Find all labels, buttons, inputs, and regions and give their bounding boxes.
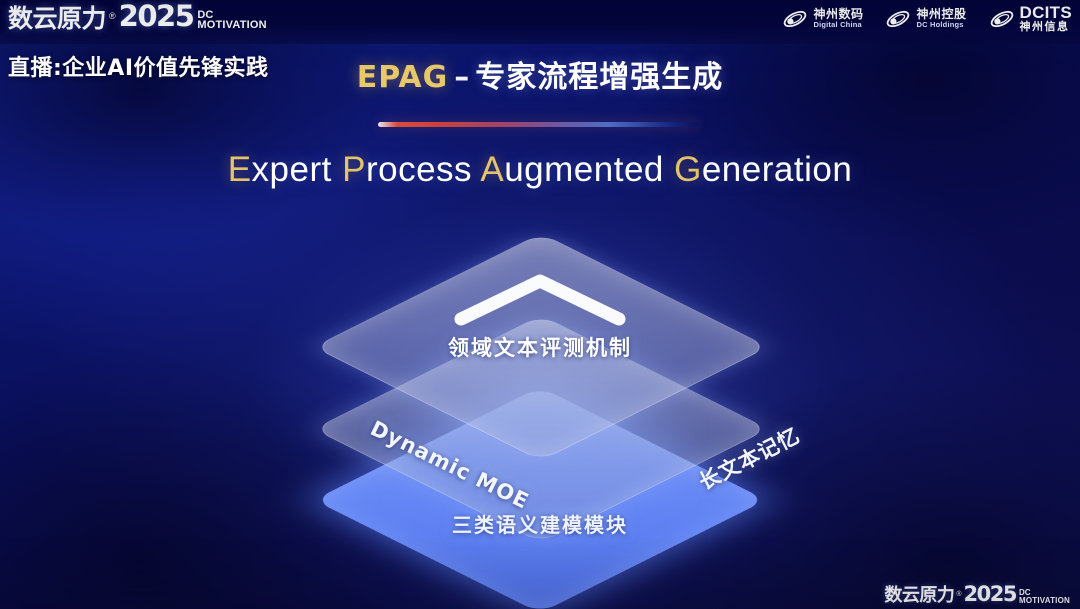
subtitle-rest-process: rocess: [366, 150, 472, 189]
partner-name-cn: 神州信息: [1020, 21, 1073, 33]
chevron-up-icon: [453, 272, 627, 333]
watermark-registered-mark: ®: [956, 591, 961, 598]
slide-canvas: 数云原力 ® 2025 DC MOTIVATION 直播:企业AI价值先锋实践 …: [0, 0, 1080, 609]
subtitle-word-process: Process: [342, 150, 472, 189]
subtitle-cap-g: G: [674, 150, 702, 189]
subtitle-cap-p: P: [342, 150, 366, 189]
swirl-logo-icon: [782, 8, 808, 30]
partner-logo-dc-holdings: 神州控股 DC Holdings: [885, 8, 966, 30]
brand-name-cn: 数云原力: [8, 6, 106, 31]
subtitle: Expert Process Augmented Generation: [0, 150, 1080, 190]
partner-logo-digital-china: 神州数码 Digital China: [782, 8, 863, 30]
swirl-logo-icon: [989, 8, 1015, 30]
title-dash: –: [448, 60, 475, 95]
brand-year: 2025: [119, 2, 194, 31]
title-chinese: 专家流程增强生成: [475, 60, 723, 95]
diagram-label-bottom: 三类语义建模模块: [0, 509, 1080, 538]
brand-dc-motivation: DC MOTIVATION: [197, 10, 266, 30]
partner-logo-dcits: DCITS 神州信息: [989, 4, 1073, 33]
live-stream-title: 直播:企业AI价值先锋实践: [8, 50, 269, 82]
subtitle-cap-e: E: [228, 150, 252, 189]
watermark-year: 2025: [964, 584, 1016, 605]
brand-dc-line2: MOTIVATION: [197, 20, 266, 30]
watermark-dc-motivation: DC MOTIVATION: [1019, 589, 1070, 604]
title-acronym: EPAG: [357, 60, 449, 95]
subtitle-rest-expert: xpert: [252, 150, 332, 189]
partner-name-en: DC Holdings: [916, 21, 966, 29]
swirl-logo-icon: [885, 8, 911, 30]
gradient-divider: [378, 122, 698, 127]
subtitle-cap-a: A: [480, 150, 504, 189]
subtitle-rest-augmented: ugmented: [504, 150, 664, 189]
partner-text: DCITS 神州信息: [1020, 4, 1073, 33]
diagram-label-top: 领域文本评测机制: [0, 332, 1080, 362]
partner-name-en: DCITS: [1020, 4, 1073, 21]
registered-mark: ®: [109, 11, 116, 21]
brand-logo: 数云原力 ® 2025 DC MOTIVATION: [8, 2, 267, 31]
partner-text: 神州数码 Digital China: [813, 8, 863, 28]
partner-logo-row: 神州数码 Digital China 神州控股 DC Holdings: [782, 4, 1072, 33]
subtitle-rest-generation: eneration: [702, 150, 852, 189]
subtitle-word-augmented: Augmented: [480, 150, 664, 189]
watermark-name-cn: 数云原力: [884, 587, 954, 605]
partner-name-en: Digital China: [813, 21, 863, 29]
subtitle-word-generation: Generation: [674, 150, 852, 189]
watermark-logo: 数云原力 ® 2025 DC MOTIVATION: [884, 584, 1070, 605]
partner-text: 神州控股 DC Holdings: [916, 8, 966, 28]
subtitle-word-expert: Expert: [228, 150, 332, 189]
watermark-dc-line2: MOTIVATION: [1019, 597, 1070, 604]
